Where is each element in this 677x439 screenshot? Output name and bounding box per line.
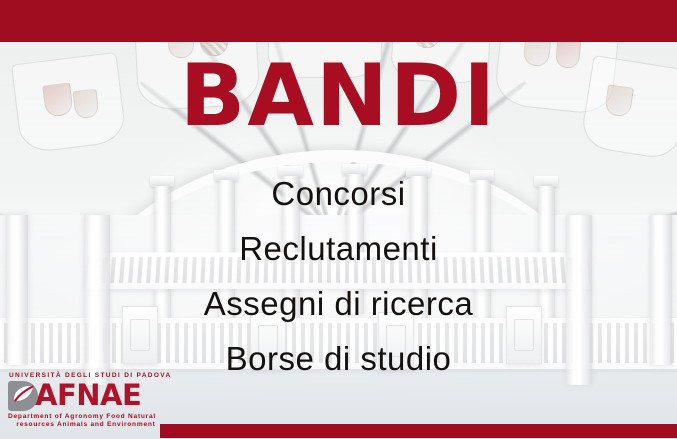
logo-wordmark: AFNAE [8,380,188,411]
logo-acronym: AFNAE [35,381,141,410]
subtitle-item-assegni: Assegni di ricerca [0,276,677,331]
subtitle-list: Concorsi Reclutamenti Assegni di ricerca… [0,166,677,386]
subtitle-item-reclutamenti: Reclutamenti [0,221,677,276]
top-red-bar [0,0,677,42]
dafnae-logo: UNIVERSITÀ DEGLI STUDI DI PADOVA AFNAE D… [8,372,188,428]
logo-department-line-1: Department of Agronomy Food Natural [8,413,188,420]
bottom-red-bar [160,424,677,438]
subtitle-item-concorsi: Concorsi [0,166,677,221]
page-title: BANDI [0,52,677,140]
bandi-banner: BANDI Concorsi Reclutamenti Assegni di r… [0,0,677,439]
logo-department-line-2: resources Animals and Environment [8,421,164,428]
leaf-icon [8,381,38,411]
